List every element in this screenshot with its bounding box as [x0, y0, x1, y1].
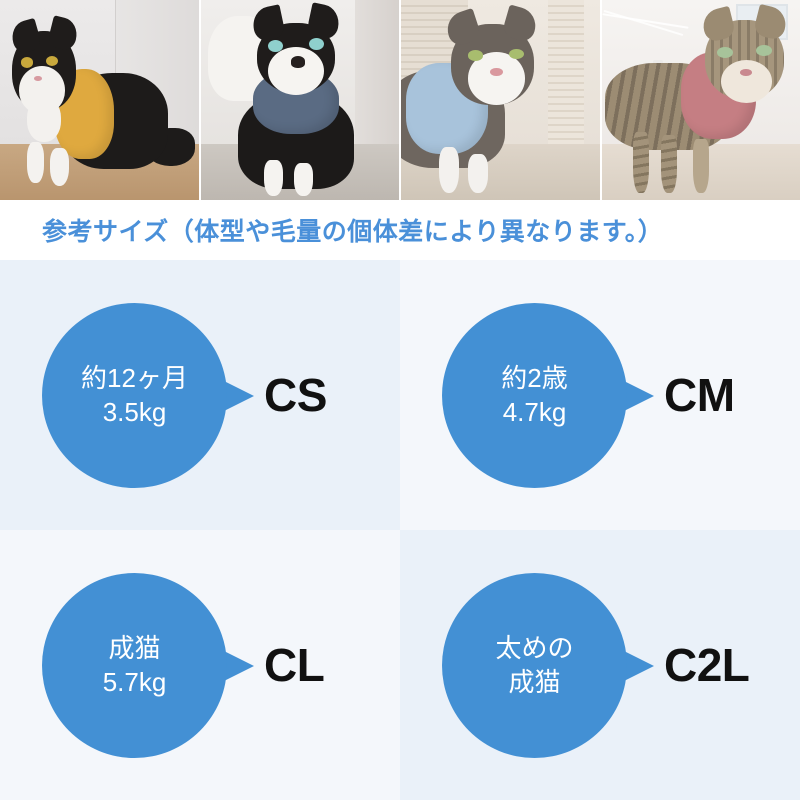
- size-code-cs: CS: [264, 368, 327, 422]
- size-cell-c2l: 太めの 成猫 C2L: [400, 530, 800, 800]
- bubble-wrap-c2l: 太めの 成猫: [442, 573, 652, 758]
- size-grid: 約12ヶ月 3.5kg CS 約2歳 4.7kg CM 成猫 5.7: [0, 260, 800, 800]
- cat-leg-right: [468, 154, 489, 193]
- size-cell-cl: 成猫 5.7kg CL: [0, 530, 400, 800]
- cat-leg-left: [27, 142, 44, 183]
- cat-eye-left: [468, 50, 483, 61]
- cat-photo-3: [401, 0, 602, 200]
- bubble-line-1: 成猫: [108, 631, 160, 665]
- bubble-wrap-cl: 成猫 5.7kg: [42, 573, 252, 758]
- cat-nose: [740, 69, 752, 76]
- bubble-line-2: 5.7kg: [103, 665, 167, 699]
- cat-illustration-3: [401, 24, 592, 200]
- cat-muzzle: [268, 47, 324, 95]
- bubble-line-2: 4.7kg: [503, 395, 567, 429]
- page-title: 参考サイズ（体型や毛量の個体差により異なります。）: [42, 212, 663, 248]
- cat-leg-left: [439, 147, 460, 193]
- size-bubble-cm: 約2歳 4.7kg: [442, 303, 627, 488]
- cat-illustration-4: [602, 20, 800, 200]
- cat-leg-left: [264, 160, 283, 197]
- cat-muzzle: [19, 66, 65, 114]
- cat-leg-right: [50, 148, 69, 186]
- size-guide-page: 参考サイズ（体型や毛量の個体差により異なります。） 約12ヶ月 3.5kg CS…: [0, 0, 800, 800]
- size-code-cl: CL: [264, 638, 324, 692]
- cat-leg-left: [633, 132, 649, 193]
- cat-nose: [291, 56, 306, 67]
- size-cell-cs: 約12ヶ月 3.5kg CS: [0, 260, 400, 530]
- cat-photo-strip: [0, 0, 800, 200]
- cat-photo-4: [602, 0, 800, 200]
- size-bubble-cs: 約12ヶ月 3.5kg: [42, 303, 227, 488]
- cat-eye-left: [268, 40, 283, 52]
- size-code-c2l: C2L: [664, 638, 749, 692]
- cat-eye-left: [21, 57, 33, 67]
- bubble-wrap-cm: 約2歳 4.7kg: [442, 303, 652, 488]
- bubble-line-2: 3.5kg: [103, 395, 167, 429]
- size-code-cm: CM: [664, 368, 735, 422]
- cat-photo-1: [0, 0, 201, 200]
- cat-photo-2: [201, 0, 402, 200]
- bubble-line-1: 太めの: [495, 631, 573, 665]
- bubble-line-2: 成猫: [508, 665, 560, 699]
- bubble-line-1: 約12ヶ月: [81, 361, 188, 395]
- size-cell-cm: 約2歳 4.7kg CM: [400, 260, 800, 530]
- size-bubble-cl: 成猫 5.7kg: [42, 573, 227, 758]
- cat-muzzle: [721, 60, 773, 103]
- cat-eye-right: [46, 56, 58, 66]
- bubble-line-1: 約2歳: [501, 361, 567, 395]
- cat-leg-center: [693, 139, 709, 193]
- cat-leg-right: [294, 163, 313, 196]
- cat-illustration-1: [4, 28, 195, 200]
- cat-leg-right: [661, 135, 677, 193]
- section-header: 参考サイズ（体型や毛量の個体差により異なります。）: [0, 200, 800, 260]
- cat-eye-left: [717, 47, 733, 58]
- bubble-wrap-cs: 約12ヶ月 3.5kg: [42, 303, 252, 488]
- cat-illustration-2: [208, 16, 395, 200]
- cat-nose: [490, 68, 502, 76]
- size-bubble-c2l: 太めの 成猫: [442, 573, 627, 758]
